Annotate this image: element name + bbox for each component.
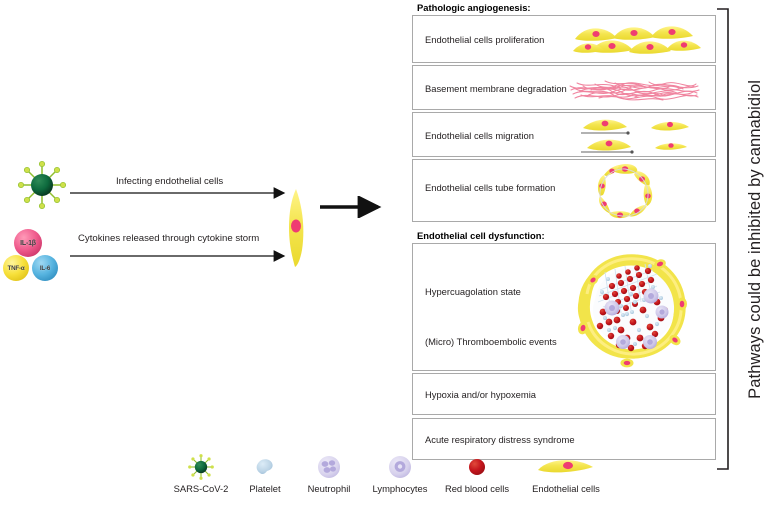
panel-tube-formation: Endothelial cells tube formation [412, 159, 716, 222]
arrow-label-cytokine-storm: Cytokines released through cytokine stor… [78, 233, 259, 244]
panel-thromboembolic-label: (Micro) Thromboembolic events [425, 336, 557, 347]
cytokine-il6: IL-6 [31, 254, 59, 282]
grouping-bracket [716, 8, 730, 470]
sars-cov-2-virion-icon [14, 157, 70, 213]
legend-item-endothelial-cells: Endothelial cells [496, 452, 636, 494]
figure-root: IL-1β TNF-α IL-6 Infecting endothelial c… [0, 0, 777, 506]
panel-hypoxia: Hypoxia and/or hypoxemia [412, 373, 716, 415]
panel-proliferation-label: Endothelial cells proliferation [425, 34, 544, 45]
arrow-to-outcomes [318, 196, 394, 218]
panel-migration: Endothelial cells migration [412, 112, 716, 157]
panel-dysfunction-group: Hypercuagolation state (Micro) Thromboem… [412, 243, 716, 371]
neutrophil-icon [316, 454, 342, 480]
lymphocyte-icon [387, 454, 413, 480]
panel-hypercoagulation-label: Hypercuagolation state [425, 286, 521, 297]
panel-basement-membrane-label: Basement membrane degradation [425, 83, 567, 94]
legend-glyph-endothelial-cells [496, 452, 636, 482]
endothelial-cell-target [283, 188, 309, 268]
illustration-vessel-cross-section-with-thrombus [565, 250, 695, 368]
cytokine-tnfa: TNF-α [2, 254, 30, 282]
illustration-endothelial-tube-ring [591, 163, 659, 221]
illustration-endothelial-cells-cluster [571, 21, 706, 59]
side-caption: Pathways could be inhibited by cannabidi… [735, 8, 775, 470]
arrow-infecting [70, 186, 295, 200]
side-caption-text: Pathways could be inhibited by cannabidi… [746, 80, 765, 399]
cytokine-tnfa-label: TNF-α [2, 254, 30, 282]
panel-tube-formation-label: Endothelial cells tube formation [425, 182, 555, 193]
panel-migration-label: Endothelial cells migration [425, 130, 534, 141]
panel-basement-membrane: Basement membrane degradation [412, 65, 716, 110]
section-heading-endothelial-cell-dysfunction: Endothelial cell dysfunction: [417, 230, 545, 241]
legend: SARS-CoV-2 Platelet [0, 452, 777, 506]
panel-proliferation: Endothelial cells proliferation [412, 15, 716, 63]
illustration-collagen-fibers-mesh [565, 74, 705, 104]
section-heading-pathologic-angiogenesis: Pathologic angiogenesis: [417, 2, 531, 13]
endothelial-cell-icon [535, 456, 597, 478]
panel-hypoxia-label: Hypoxia and/or hypoxemia [425, 389, 536, 400]
red-blood-cell-icon [467, 457, 487, 477]
legend-label-endothelial-cells: Endothelial cells [496, 483, 636, 494]
cytokine-il6-label: IL-6 [31, 254, 59, 282]
arrow-cytokine-storm [70, 249, 295, 263]
illustration-cells-with-motion-arrows [573, 116, 708, 156]
panel-ards-label: Acute respiratory distress syndrome [425, 434, 575, 445]
